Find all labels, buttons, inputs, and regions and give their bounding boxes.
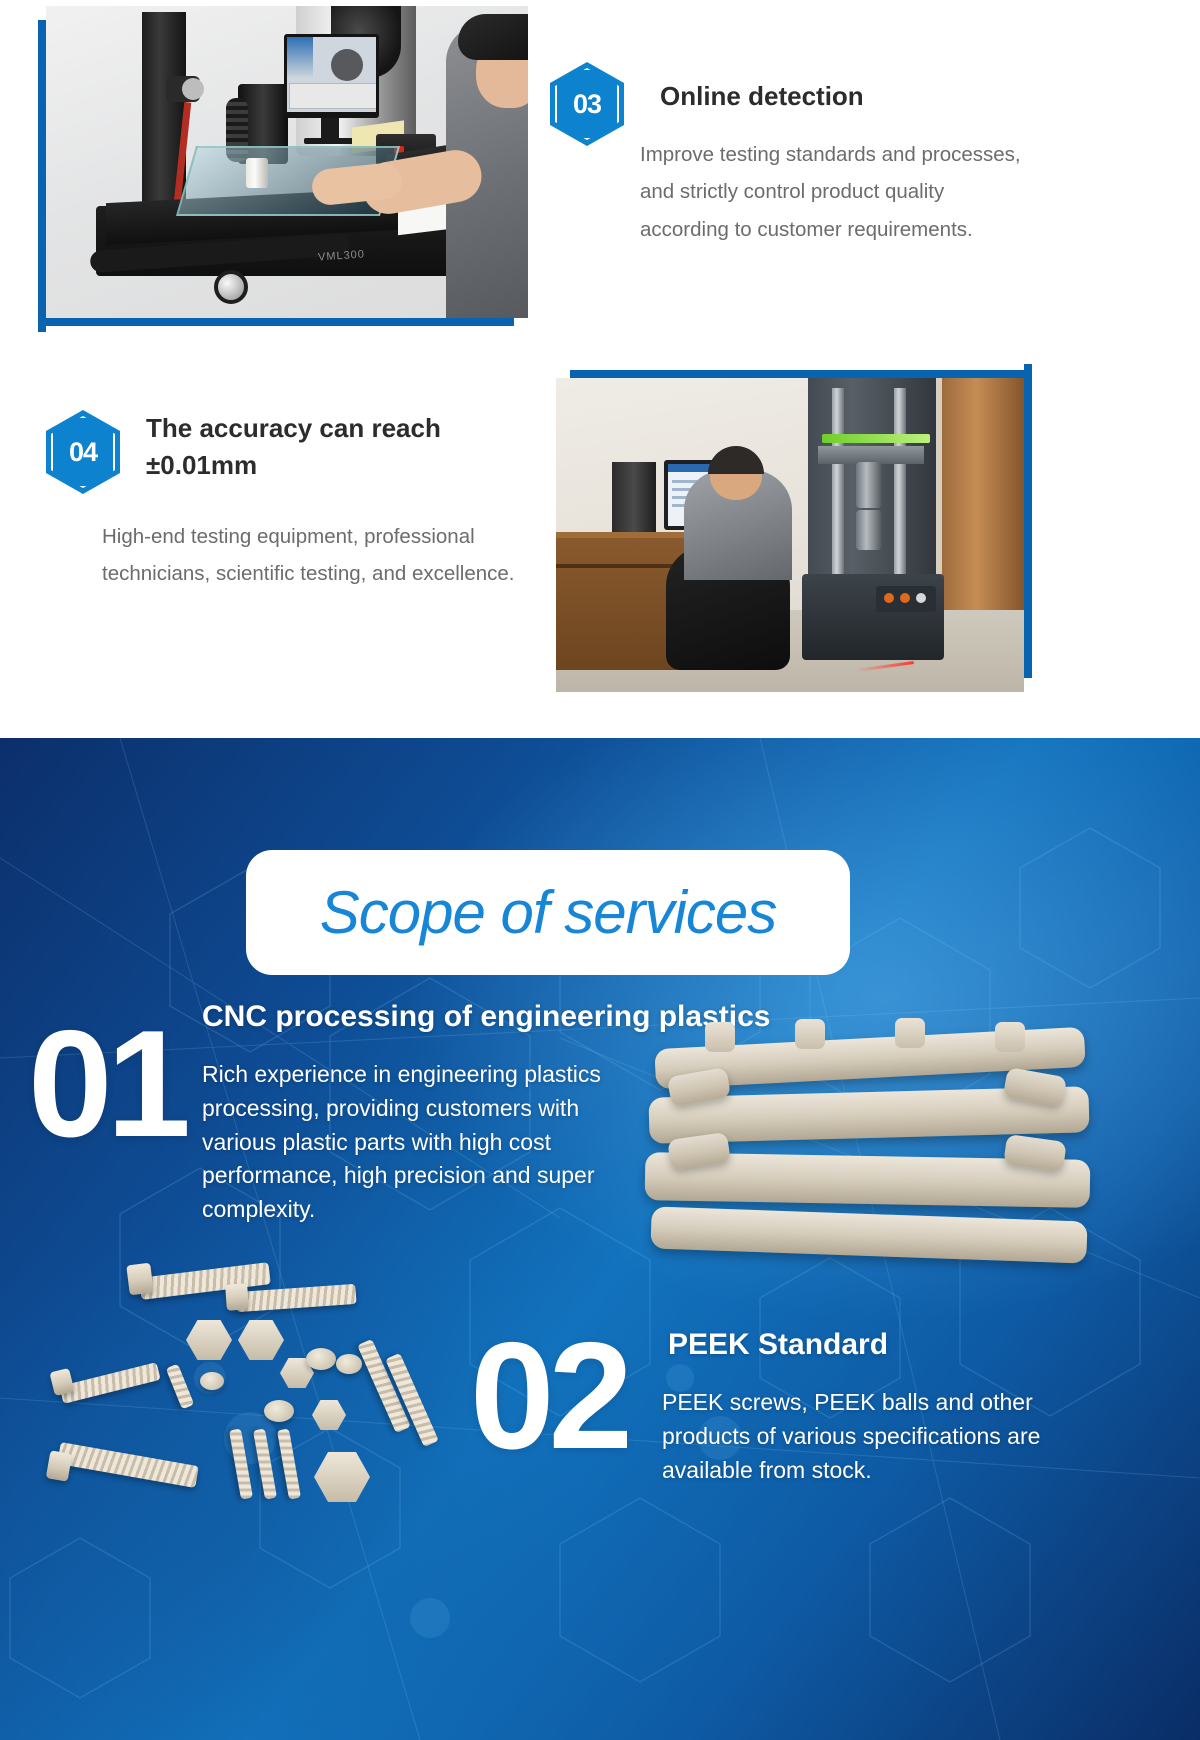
feature-description-03: Improve testing standards and processes,… [640, 136, 1032, 248]
frame-accent-right [1024, 364, 1032, 678]
frame-accent-bottom [38, 318, 514, 326]
feature-image-online-detection: VML300 [46, 6, 528, 318]
frame-accent-left [38, 20, 46, 332]
feature-image-accuracy [556, 378, 1024, 692]
product-image-conveyor-chain [645, 1028, 1090, 1268]
service-description-01: Rich experience in engineering plastics … [202, 1058, 632, 1227]
feature-title-03: Online detection [660, 78, 1060, 115]
feature-number-03: 03 [550, 62, 624, 146]
feature-badge-03: 03 [550, 62, 624, 146]
feature-description-04: High-end testing equipment, professional… [102, 518, 538, 593]
frame-accent-top [570, 370, 1032, 378]
scope-title-box: Scope of services [246, 850, 850, 975]
feature-badge-04: 04 [46, 410, 120, 494]
scope-title: Scope of services [320, 878, 777, 947]
product-image-peek-screws [40, 1262, 460, 1532]
feature-title-04: The accuracy can reach ±0.01mm [146, 410, 546, 484]
service-number-02: 02 [470, 1320, 627, 1472]
service-title-02: PEEK Standard [668, 1328, 1098, 1362]
features-section: VML300 03 Online detection Improve testi… [0, 0, 1200, 808]
photo-online-detection: VML300 [46, 6, 528, 318]
service-number-01: 01 [28, 1008, 185, 1160]
service-description-02: PEEK screws, PEEK balls and other produc… [662, 1386, 1094, 1487]
photo-tensile-testing [556, 378, 1024, 692]
feature-number-04: 04 [46, 410, 120, 494]
